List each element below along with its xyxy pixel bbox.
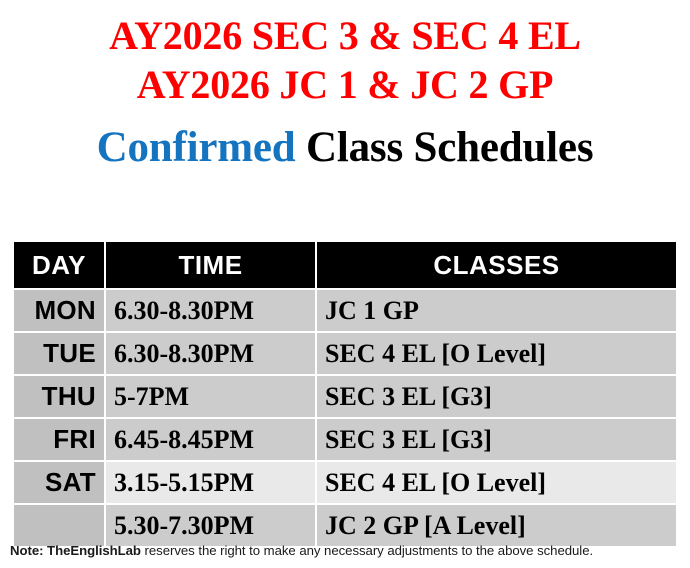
- cell-day: SAT: [14, 462, 104, 503]
- table-row: 5.30-7.30PMJC 2 GP [A Level]: [14, 505, 676, 546]
- cell-time: 5.30-7.30PM: [106, 505, 315, 546]
- cell-time: 6.30-8.30PM: [106, 333, 315, 374]
- schedule-table: DAY TIME CLASSES MON6.30-8.30PMJC 1 GPTU…: [12, 240, 678, 548]
- cell-classes: SEC 3 EL [G3]: [317, 419, 676, 460]
- table-row: TUE6.30-8.30PMSEC 4 EL [O Level]: [14, 333, 676, 374]
- schedule-table-body: MON6.30-8.30PMJC 1 GPTUE6.30-8.30PMSEC 4…: [14, 290, 676, 546]
- cell-classes: SEC 4 EL [O Level]: [317, 333, 676, 374]
- footer-note: Note: TheEnglishLab reserves the right t…: [10, 542, 682, 559]
- cell-day: THU: [14, 376, 104, 417]
- cell-classes: SEC 3 EL [G3]: [317, 376, 676, 417]
- schedule-table-head: DAY TIME CLASSES: [14, 242, 676, 288]
- table-header-row: DAY TIME CLASSES: [14, 242, 676, 288]
- cell-classes: SEC 4 EL [O Level]: [317, 462, 676, 503]
- column-header-classes: CLASSES: [317, 242, 676, 288]
- table-row: SAT3.15-5.15PMSEC 4 EL [O Level]: [14, 462, 676, 503]
- title-accent-word: Confirmed: [97, 124, 296, 171]
- cell-time: 6.45-8.45PM: [106, 419, 315, 460]
- table-row: MON6.30-8.30PMJC 1 GP: [14, 290, 676, 331]
- cell-time: 5-7PM: [106, 376, 315, 417]
- column-header-time: TIME: [106, 242, 315, 288]
- footer-note-text: reserves the right to make any necessary…: [141, 543, 593, 558]
- footer-note-label: Note: TheEnglishLab: [10, 543, 141, 558]
- cell-day: [14, 505, 104, 546]
- title-line-tertiary: Confirmed Class Schedules: [0, 124, 690, 172]
- schedule-table-container: DAY TIME CLASSES MON6.30-8.30PMJC 1 GPTU…: [12, 240, 678, 548]
- cell-day: FRI: [14, 419, 104, 460]
- table-row: FRI6.45-8.45PMSEC 3 EL [G3]: [14, 419, 676, 460]
- cell-time: 3.15-5.15PM: [106, 462, 315, 503]
- cell-day: TUE: [14, 333, 104, 374]
- title-line-secondary: AY2026 JC 1 & JC 2 GP: [0, 63, 690, 108]
- cell-day: MON: [14, 290, 104, 331]
- title-line-primary: AY2026 SEC 3 & SEC 4 EL: [0, 14, 690, 59]
- cell-classes: JC 1 GP: [317, 290, 676, 331]
- table-row: THU5-7PMSEC 3 EL [G3]: [14, 376, 676, 417]
- title-block: AY2026 SEC 3 & SEC 4 EL AY2026 JC 1 & JC…: [0, 0, 690, 172]
- column-header-day: DAY: [14, 242, 104, 288]
- cell-classes: JC 2 GP [A Level]: [317, 505, 676, 546]
- cell-time: 6.30-8.30PM: [106, 290, 315, 331]
- title-tertiary-rest: Class Schedules: [295, 124, 593, 171]
